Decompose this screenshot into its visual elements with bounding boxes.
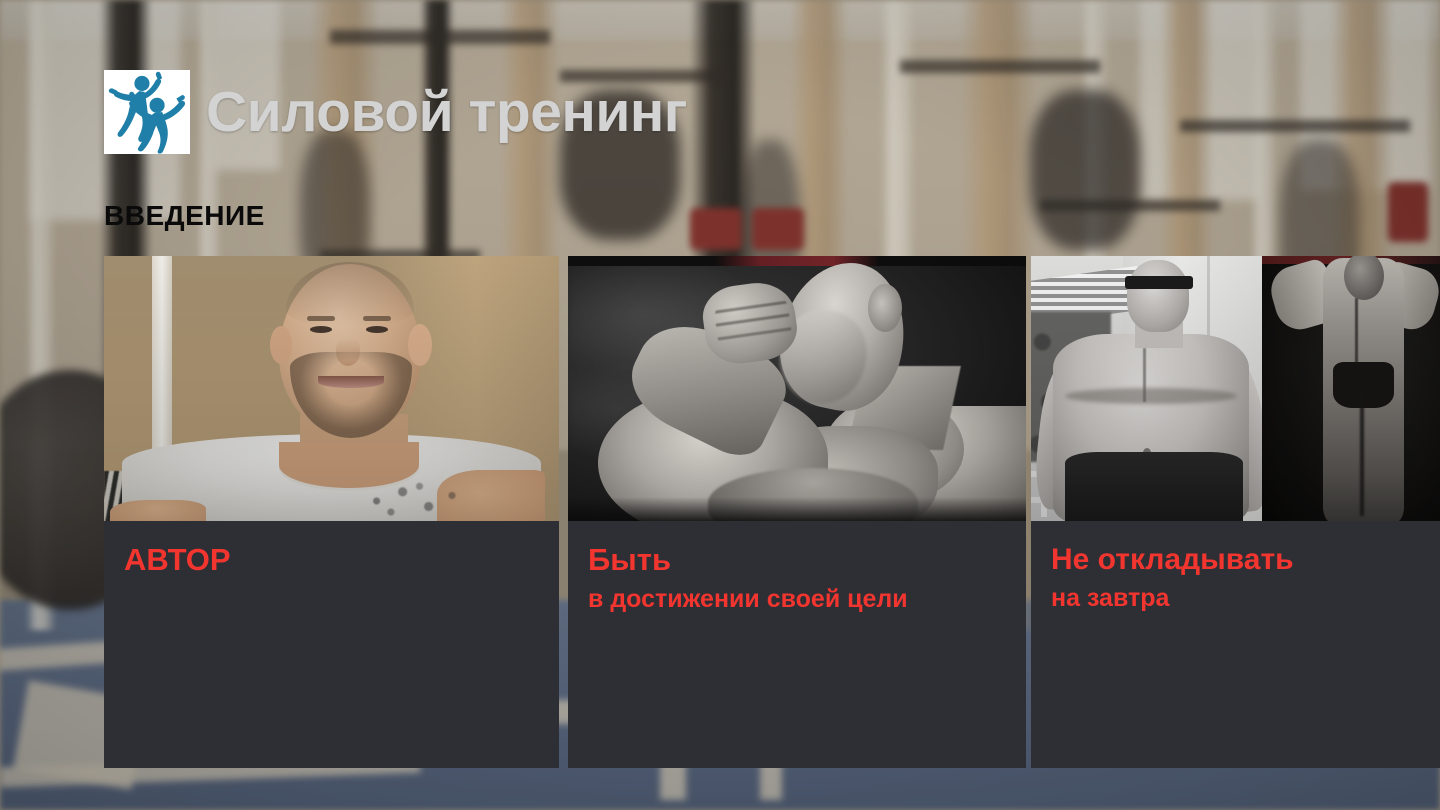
card-divider-1 xyxy=(559,256,568,768)
section-label: ВВЕДЕНИЕ xyxy=(104,200,265,232)
card-be-persistent[interactable]: Быть в достижении своей цели xyxy=(568,256,1026,768)
card-title-author: АВТОР xyxy=(124,543,539,578)
page-title: Силовой тренинг xyxy=(206,84,687,141)
card-author[interactable]: АВТОР xyxy=(104,256,559,768)
card-do-not-postpone[interactable]: Не откладывать на завтра xyxy=(1031,256,1440,768)
bicep-flex-photo xyxy=(568,256,1026,521)
be-persistent-text-block: Быть в достижении своей цели xyxy=(568,521,1026,768)
author-photo xyxy=(104,256,559,521)
two-athletes-logo-icon xyxy=(104,70,190,154)
presentation-slide: Силовой тренинг ВВЕДЕНИЕ xyxy=(0,0,1440,810)
before-after-photo xyxy=(1031,256,1440,521)
card-subtitle-postpone: на завтра xyxy=(1051,583,1420,613)
do-not-postpone-text-block: Не откладывать на завтра xyxy=(1031,521,1440,768)
card-title-be: Быть xyxy=(588,543,1006,578)
card-subtitle-be: в достижении своей цели xyxy=(588,584,1006,614)
card-title-postpone: Не откладывать xyxy=(1051,543,1420,577)
card-row: АВТОР xyxy=(104,256,1440,768)
slide-header: Силовой тренинг xyxy=(104,70,687,154)
author-text-block: АВТОР xyxy=(104,521,559,768)
